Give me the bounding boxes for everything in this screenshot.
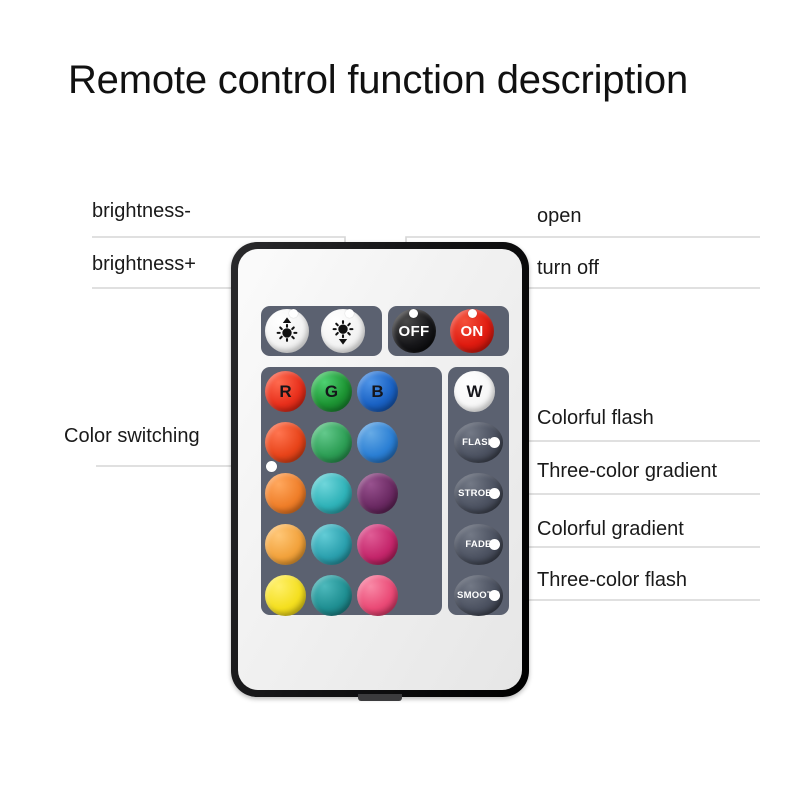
color-swatch-r2c3[interactable] bbox=[357, 422, 398, 463]
label-three-color-flash: Three-color flash bbox=[537, 568, 687, 592]
label-brightness-up: brightness+ bbox=[92, 252, 196, 276]
anchor-flash bbox=[489, 437, 500, 448]
label-color-switching: Color switching bbox=[64, 424, 200, 448]
on-button-label: ON bbox=[460, 323, 483, 340]
color-swatch-r5c1[interactable] bbox=[265, 575, 306, 616]
color-swatch-r3c2[interactable] bbox=[311, 473, 352, 514]
color-swatch-r2c1[interactable] bbox=[265, 422, 306, 463]
color-swatch-r3c1[interactable] bbox=[265, 473, 306, 514]
white-color-button[interactable]: W bbox=[454, 371, 495, 412]
label-brightness-down: brightness- bbox=[92, 199, 191, 223]
brightness-down-button[interactable] bbox=[321, 309, 365, 353]
fade-button-label: FADE bbox=[465, 539, 491, 550]
brightness-up-button[interactable] bbox=[265, 309, 309, 353]
color-swatch-r4c1[interactable] bbox=[265, 524, 306, 565]
anchor-on bbox=[468, 309, 477, 318]
sun-up-icon bbox=[272, 316, 302, 346]
red-color-button[interactable]: R bbox=[265, 371, 306, 412]
remote-faceplate: OFF ON R G B W FLASH bbox=[238, 249, 522, 690]
label-colorful-flash: Colorful flash bbox=[537, 406, 654, 430]
label-turn-off: turn off bbox=[537, 256, 599, 280]
sun-down-icon bbox=[328, 316, 358, 346]
green-color-button[interactable]: G bbox=[311, 371, 352, 412]
blue-color-button[interactable]: B bbox=[357, 371, 398, 412]
label-colorful-gradient: Colorful gradient bbox=[537, 517, 684, 541]
off-button-label: OFF bbox=[399, 323, 430, 340]
remote-control-body: OFF ON R G B W FLASH bbox=[231, 242, 529, 697]
anchor-color-switching bbox=[266, 461, 277, 472]
color-swatch-r2c2[interactable] bbox=[311, 422, 352, 463]
green-label: G bbox=[325, 382, 338, 402]
color-swatch-r3c3[interactable] bbox=[357, 473, 398, 514]
red-label: R bbox=[279, 382, 291, 402]
anchor-brightness-up bbox=[289, 309, 298, 318]
anchor-fade bbox=[489, 539, 500, 550]
anchor-off bbox=[409, 309, 418, 318]
color-swatch-r5c2[interactable] bbox=[311, 575, 352, 616]
color-swatch-r4c3[interactable] bbox=[357, 524, 398, 565]
white-label: W bbox=[466, 382, 482, 402]
page-title: Remote control function description bbox=[68, 56, 688, 104]
label-three-color-gradient: Three-color gradient bbox=[537, 459, 717, 483]
color-swatch-r5c3[interactable] bbox=[357, 575, 398, 616]
color-swatch-r4c2[interactable] bbox=[311, 524, 352, 565]
remote-bottom-notch bbox=[358, 694, 402, 701]
label-open: open bbox=[537, 204, 582, 228]
anchor-brightness-down bbox=[345, 309, 354, 318]
anchor-strobe bbox=[489, 488, 500, 499]
anchor-smooth bbox=[489, 590, 500, 601]
blue-label: B bbox=[371, 382, 383, 402]
